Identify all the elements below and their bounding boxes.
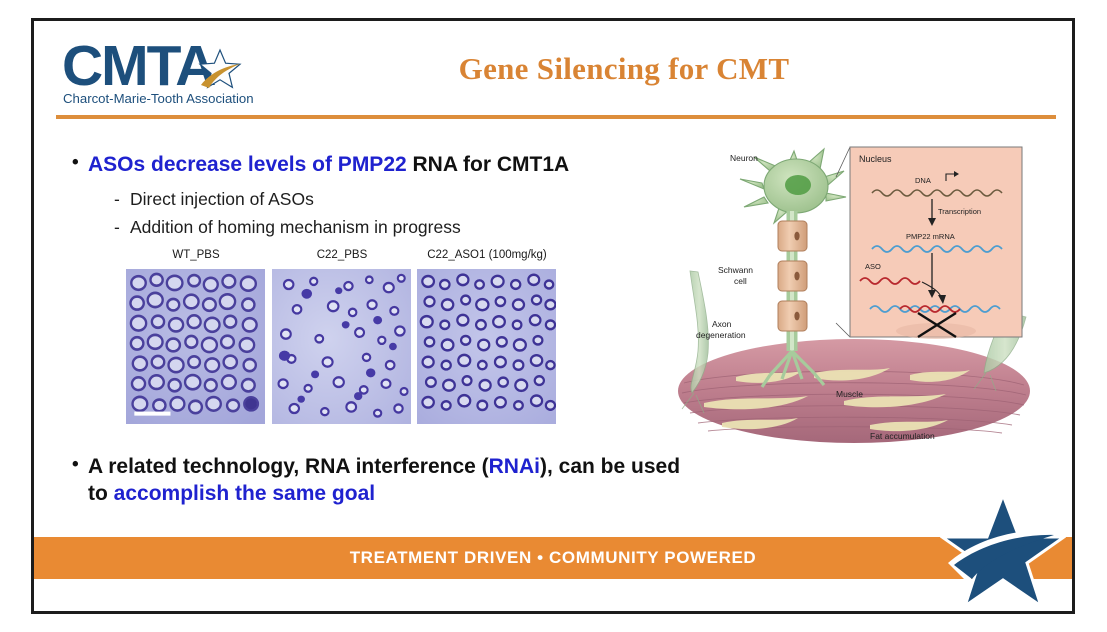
cmta-logo-tagline: Charcot-Marie-Tooth Association (63, 91, 254, 106)
bullet-2-goal-blue: accomplish the same goal (114, 482, 375, 505)
micrograph-wt-pbs (126, 269, 265, 424)
diagram-label-neuron: Neuron (730, 153, 758, 163)
micrograph-c22-pbs (272, 269, 411, 424)
micrograph-caption-wt-pbs: WT_PBS (111, 249, 281, 261)
sub-bullet-direct-injection-text: Direct injection of ASOs (130, 189, 314, 210)
sub-bullet-homing-mechanism: - Addition of homing mechanism in progre… (114, 217, 461, 238)
micrograph-figure-group: WT_PBS (126, 249, 566, 424)
bullet-1-black-segment: RNA for CMT1A (407, 153, 570, 176)
schwann-cells (778, 221, 807, 331)
bullet-2-rnai-blue: RNAi (489, 455, 540, 478)
sub-bullet-direct-injection: - Direct injection of ASOs (114, 189, 314, 210)
slide-title: Gene Silencing for CMT (324, 51, 924, 87)
diagram-label-mrna: PMP22 mRNA (906, 232, 955, 241)
footer-banner: TREATMENT DRIVEN • COMMUNITY POWERED (34, 537, 1072, 579)
diagram-label-schwann-1: Schwann (718, 265, 753, 275)
cmta-star-swoosh-icon (940, 491, 1066, 609)
bullet-marker: • (72, 453, 88, 477)
header-divider (56, 115, 1056, 119)
micrograph-caption-c22-aso1: C22_ASO1 (100mg/kg) (402, 249, 572, 261)
diagram-label-schwann-2: cell (734, 276, 747, 286)
bullet-rnai: • A related technology, RNA interference… (72, 453, 682, 508)
diagram-label-aso: ASO (865, 262, 881, 271)
micrograph-wt-pbs-image (126, 269, 265, 424)
footer-star-logo (940, 491, 1066, 609)
diagram-label-fat: Fat accumulation (870, 431, 935, 441)
micrograph-c22-aso1 (417, 269, 556, 424)
footer-tagline: TREATMENT DRIVEN • COMMUNITY POWERED (34, 548, 1072, 568)
cmta-logo: CMTA Charcot-Marie-Tooth Association (60, 33, 270, 111)
diagram-label-axon-1: Axon (712, 319, 732, 329)
bullet-marker: • (72, 151, 88, 175)
diagram-label-nucleus: Nucleus (859, 154, 892, 164)
diagram-label-axon-2: degeneration (696, 330, 746, 340)
bullet-aso-decrease-text: ASOs decrease levels of PMP22 RNA for CM… (88, 151, 569, 178)
slide-canvas: CMTA Charcot-Marie-Tooth Association Gen… (0, 0, 1107, 632)
presentation-slide: CMTA Charcot-Marie-Tooth Association Gen… (31, 18, 1075, 614)
bullet-rnai-text: A related technology, RNA interference (… (88, 453, 682, 508)
bullet-2-segment-1: A related technology, RNA interference ( (88, 455, 489, 478)
micrograph-c22-aso1-image (417, 269, 556, 424)
bullet-1-blue-segment: ASOs decrease levels of PMP22 (88, 153, 407, 176)
nucleus-inset: Nucleus DNA Transcription PMP22 mRNA ASO (836, 147, 1022, 339)
sub-bullet-marker: - (114, 217, 130, 238)
aso-mechanism-diagram: Nucleus DNA Transcription PMP22 mRNA ASO (674, 141, 1034, 461)
aso-mechanism-svg: Nucleus DNA Transcription PMP22 mRNA ASO (674, 141, 1034, 461)
diagram-label-muscle: Muscle (836, 389, 863, 399)
micrograph-c22-pbs-image (272, 269, 411, 424)
svg-text:CMTA: CMTA (62, 34, 215, 98)
sub-bullet-marker: - (114, 189, 130, 210)
cmta-logo-svg: CMTA Charcot-Marie-Tooth Association (60, 33, 270, 111)
bullet-aso-decrease: • ASOs decrease levels of PMP22 RNA for … (72, 151, 672, 178)
diagram-label-transcription: Transcription (938, 207, 981, 216)
sub-bullet-homing-mechanism-text: Addition of homing mechanism in progress (130, 217, 461, 238)
diagram-label-dna: DNA (915, 176, 931, 185)
